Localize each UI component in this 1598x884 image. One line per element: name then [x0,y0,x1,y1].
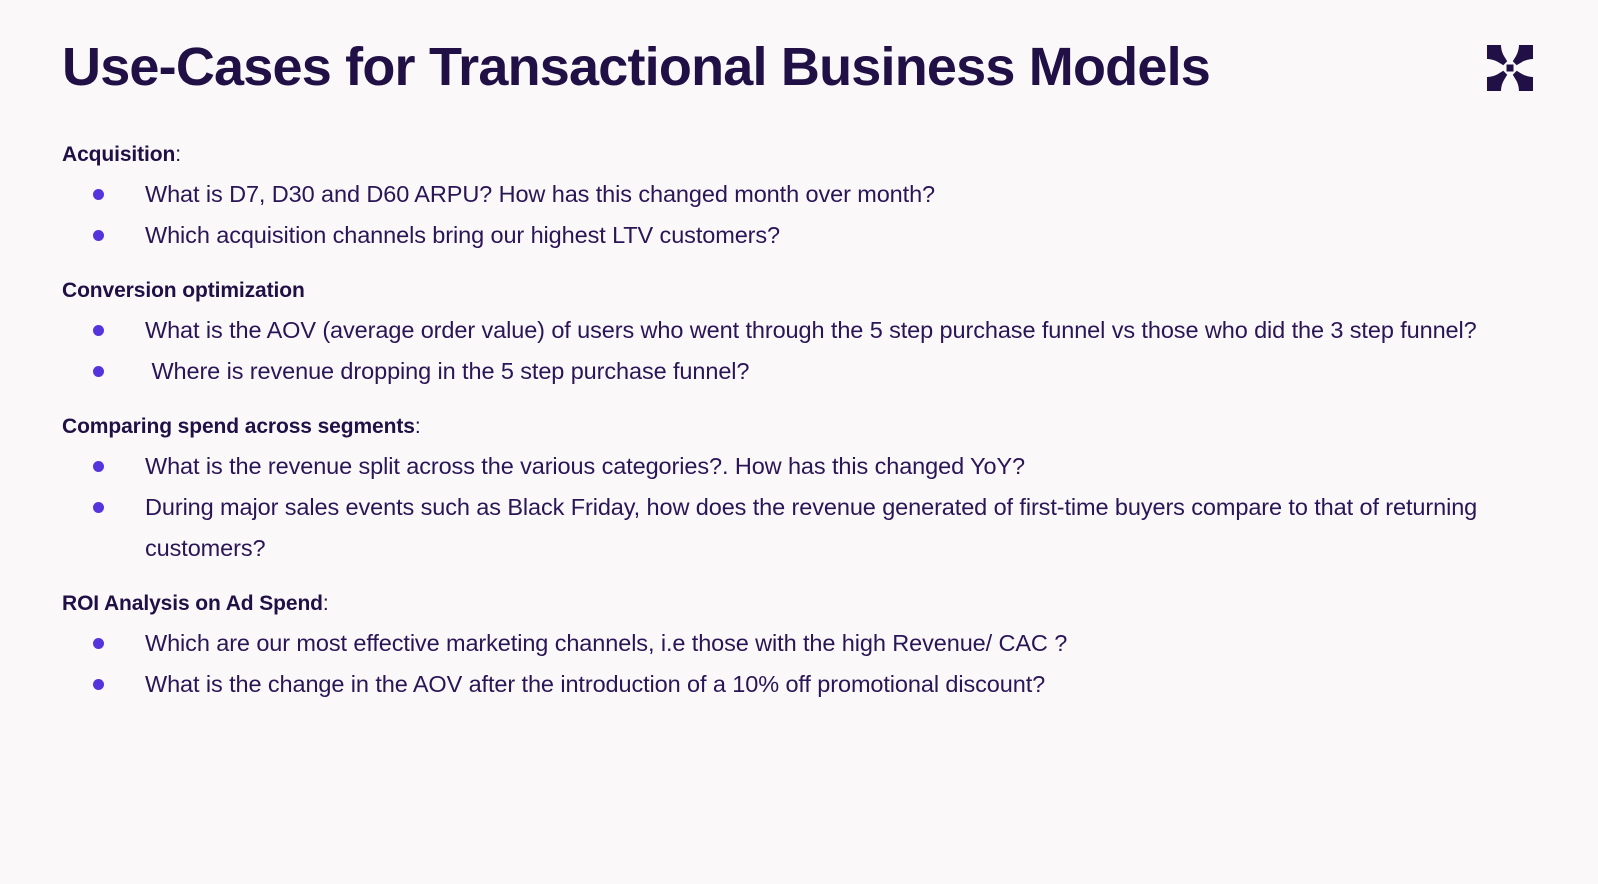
section-heading-suffix: : [175,143,181,166]
section-heading-text: Comparing spend across segments [62,415,415,438]
list-item-text: What is the change in the AOV after the … [145,671,1045,697]
section-comparing-spend: Comparing spend across segments: What is… [62,414,1558,569]
bullet-list-conversion-optimization: What is the AOV (average order value) of… [62,310,1558,392]
list-item-text: What is the AOV (average order value) of… [145,317,1477,343]
slide-body: Acquisition: What is D7, D30 and D60 ARP… [62,142,1558,705]
list-item-text: During major sales events such as Black … [145,494,1484,561]
bullet-list-roi-analysis: Which are our most effective marketing c… [62,623,1558,705]
list-item: Which acquisition channels bring our hig… [62,215,1558,256]
bullet-dot-icon [93,461,104,472]
list-item: During major sales events such as Black … [62,487,1558,569]
bullet-dot-icon [93,189,104,200]
section-heading-text: Acquisition [62,143,175,166]
section-heading-text: Conversion optimization [62,279,305,302]
list-item: What is D7, D30 and D60 ARPU? How has th… [62,174,1558,215]
bullet-dot-icon [93,502,104,513]
slide: Use-Cases for Transactional Business Mod… [0,0,1598,884]
bullet-list-comparing-spend: What is the revenue split across the var… [62,446,1558,569]
section-acquisition: Acquisition: What is D7, D30 and D60 ARP… [62,142,1558,256]
section-heading-roi-analysis: ROI Analysis on Ad Spend: [62,591,1558,617]
section-heading-suffix: : [323,592,329,615]
page-title: Use-Cases for Transactional Business Mod… [62,40,1536,94]
section-heading-acquisition: Acquisition: [62,142,1558,168]
bullet-dot-icon [93,325,104,336]
list-item-text: Which acquisition channels bring our hig… [145,222,780,248]
list-item: What is the revenue split across the var… [62,446,1558,487]
list-item-text: What is the revenue split across the var… [145,453,1025,479]
list-item: What is the AOV (average order value) of… [62,310,1558,351]
bullet-dot-icon [93,230,104,241]
list-item-text: What is D7, D30 and D60 ARPU? How has th… [145,181,935,207]
bullet-list-acquisition: What is D7, D30 and D60 ARPU? How has th… [62,174,1558,256]
section-roi-analysis: ROI Analysis on Ad Spend: Which are our … [62,591,1558,705]
section-heading-comparing-spend: Comparing spend across segments: [62,414,1558,440]
section-heading-conversion-optimization: Conversion optimization [62,278,1558,304]
slide-header: Use-Cases for Transactional Business Mod… [62,40,1536,120]
section-heading-suffix: : [415,415,421,438]
section-conversion-optimization: Conversion optimization What is the AOV … [62,278,1558,392]
x-mark-logo [1484,42,1536,94]
list-item-text: Where is revenue dropping in the 5 step … [145,358,749,384]
list-item: Which are our most effective marketing c… [62,623,1558,664]
list-item-text: Which are our most effective marketing c… [145,630,1067,656]
bullet-dot-icon [93,638,104,649]
bullet-dot-icon [93,679,104,690]
bullet-dot-icon [93,366,104,377]
list-item: Where is revenue dropping in the 5 step … [62,351,1558,392]
section-heading-text: ROI Analysis on Ad Spend [62,592,323,615]
list-item: What is the change in the AOV after the … [62,664,1558,705]
